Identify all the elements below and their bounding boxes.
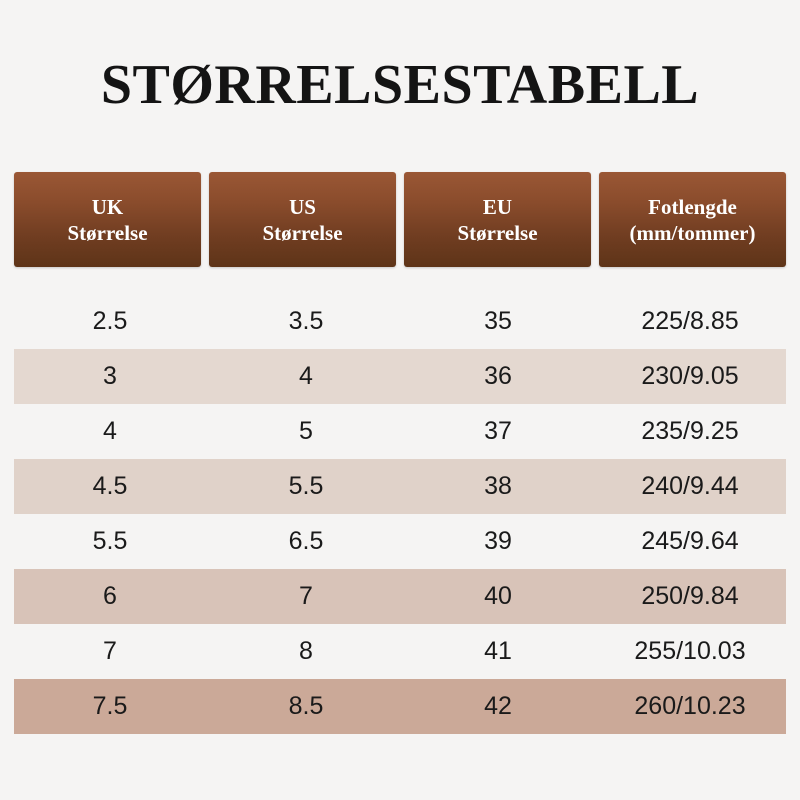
header-label-line2: (mm/tommer) <box>630 220 756 246</box>
table-cell-eu: 40 <box>402 582 594 611</box>
table-row: 3436230/9.05 <box>14 349 786 404</box>
header-label-line1: US <box>289 194 316 220</box>
header-label-line2: Størrelse <box>457 220 537 246</box>
table-cell-us: 5.5 <box>210 472 402 501</box>
table-body: 2.53.535225/8.853436230/9.054537235/9.25… <box>14 294 786 734</box>
table-cell-us: 5 <box>210 417 402 446</box>
size-table: UKStørrelseUSStørrelseEUStørrelseFotleng… <box>14 172 786 734</box>
table-cell-length: 245/9.64 <box>594 527 786 556</box>
table-cell-length: 250/9.84 <box>594 582 786 611</box>
table-cell-eu: 37 <box>402 417 594 446</box>
page-title: STØRRELSESTABELL <box>0 54 800 116</box>
table-cell-uk: 5.5 <box>14 527 210 556</box>
table-cell-uk: 4.5 <box>14 472 210 501</box>
table-cell-eu: 36 <box>402 362 594 391</box>
table-cell-uk: 4 <box>14 417 210 446</box>
header-label-line1: UK <box>92 194 124 220</box>
table-cell-length: 230/9.05 <box>594 362 786 391</box>
table-cell-us: 7 <box>210 582 402 611</box>
table-row: 6740250/9.84 <box>14 569 786 624</box>
table-cell-uk: 3 <box>14 362 210 391</box>
table-header-cell-length: Fotlengde(mm/tommer) <box>599 172 786 267</box>
table-cell-length: 235/9.25 <box>594 417 786 446</box>
table-cell-length: 255/10.03 <box>594 637 786 666</box>
table-cell-us: 8.5 <box>210 692 402 721</box>
table-cell-length: 260/10.23 <box>594 692 786 721</box>
table-cell-length: 240/9.44 <box>594 472 786 501</box>
table-row: 5.56.539245/9.64 <box>14 514 786 569</box>
table-cell-eu: 41 <box>402 637 594 666</box>
table-header-cell-us: USStørrelse <box>209 172 396 267</box>
header-label-line2: Størrelse <box>262 220 342 246</box>
table-cell-us: 8 <box>210 637 402 666</box>
table-cell-uk: 6 <box>14 582 210 611</box>
table-cell-length: 225/8.85 <box>594 307 786 336</box>
table-cell-eu: 39 <box>402 527 594 556</box>
size-chart-page: STØRRELSESTABELL UKStørrelseUSStørrelseE… <box>0 0 800 800</box>
table-cell-uk: 2.5 <box>14 307 210 336</box>
table-row: 7.58.542260/10.23 <box>14 679 786 734</box>
table-cell-us: 6.5 <box>210 527 402 556</box>
table-row: 7841255/10.03 <box>14 624 786 679</box>
table-header-row: UKStørrelseUSStørrelseEUStørrelseFotleng… <box>14 172 786 267</box>
table-cell-eu: 38 <box>402 472 594 501</box>
header-label-line2: Størrelse <box>67 220 147 246</box>
table-header-cell-eu: EUStørrelse <box>404 172 591 267</box>
table-row: 2.53.535225/8.85 <box>14 294 786 349</box>
header-label-line1: Fotlengde <box>648 194 737 220</box>
header-label-line1: EU <box>483 194 512 220</box>
table-cell-eu: 42 <box>402 692 594 721</box>
table-cell-uk: 7 <box>14 637 210 666</box>
table-cell-us: 3.5 <box>210 307 402 336</box>
table-cell-eu: 35 <box>402 307 594 336</box>
table-row: 4537235/9.25 <box>14 404 786 459</box>
table-cell-uk: 7.5 <box>14 692 210 721</box>
table-row: 4.55.538240/9.44 <box>14 459 786 514</box>
table-header-cell-uk: UKStørrelse <box>14 172 201 267</box>
table-cell-us: 4 <box>210 362 402 391</box>
